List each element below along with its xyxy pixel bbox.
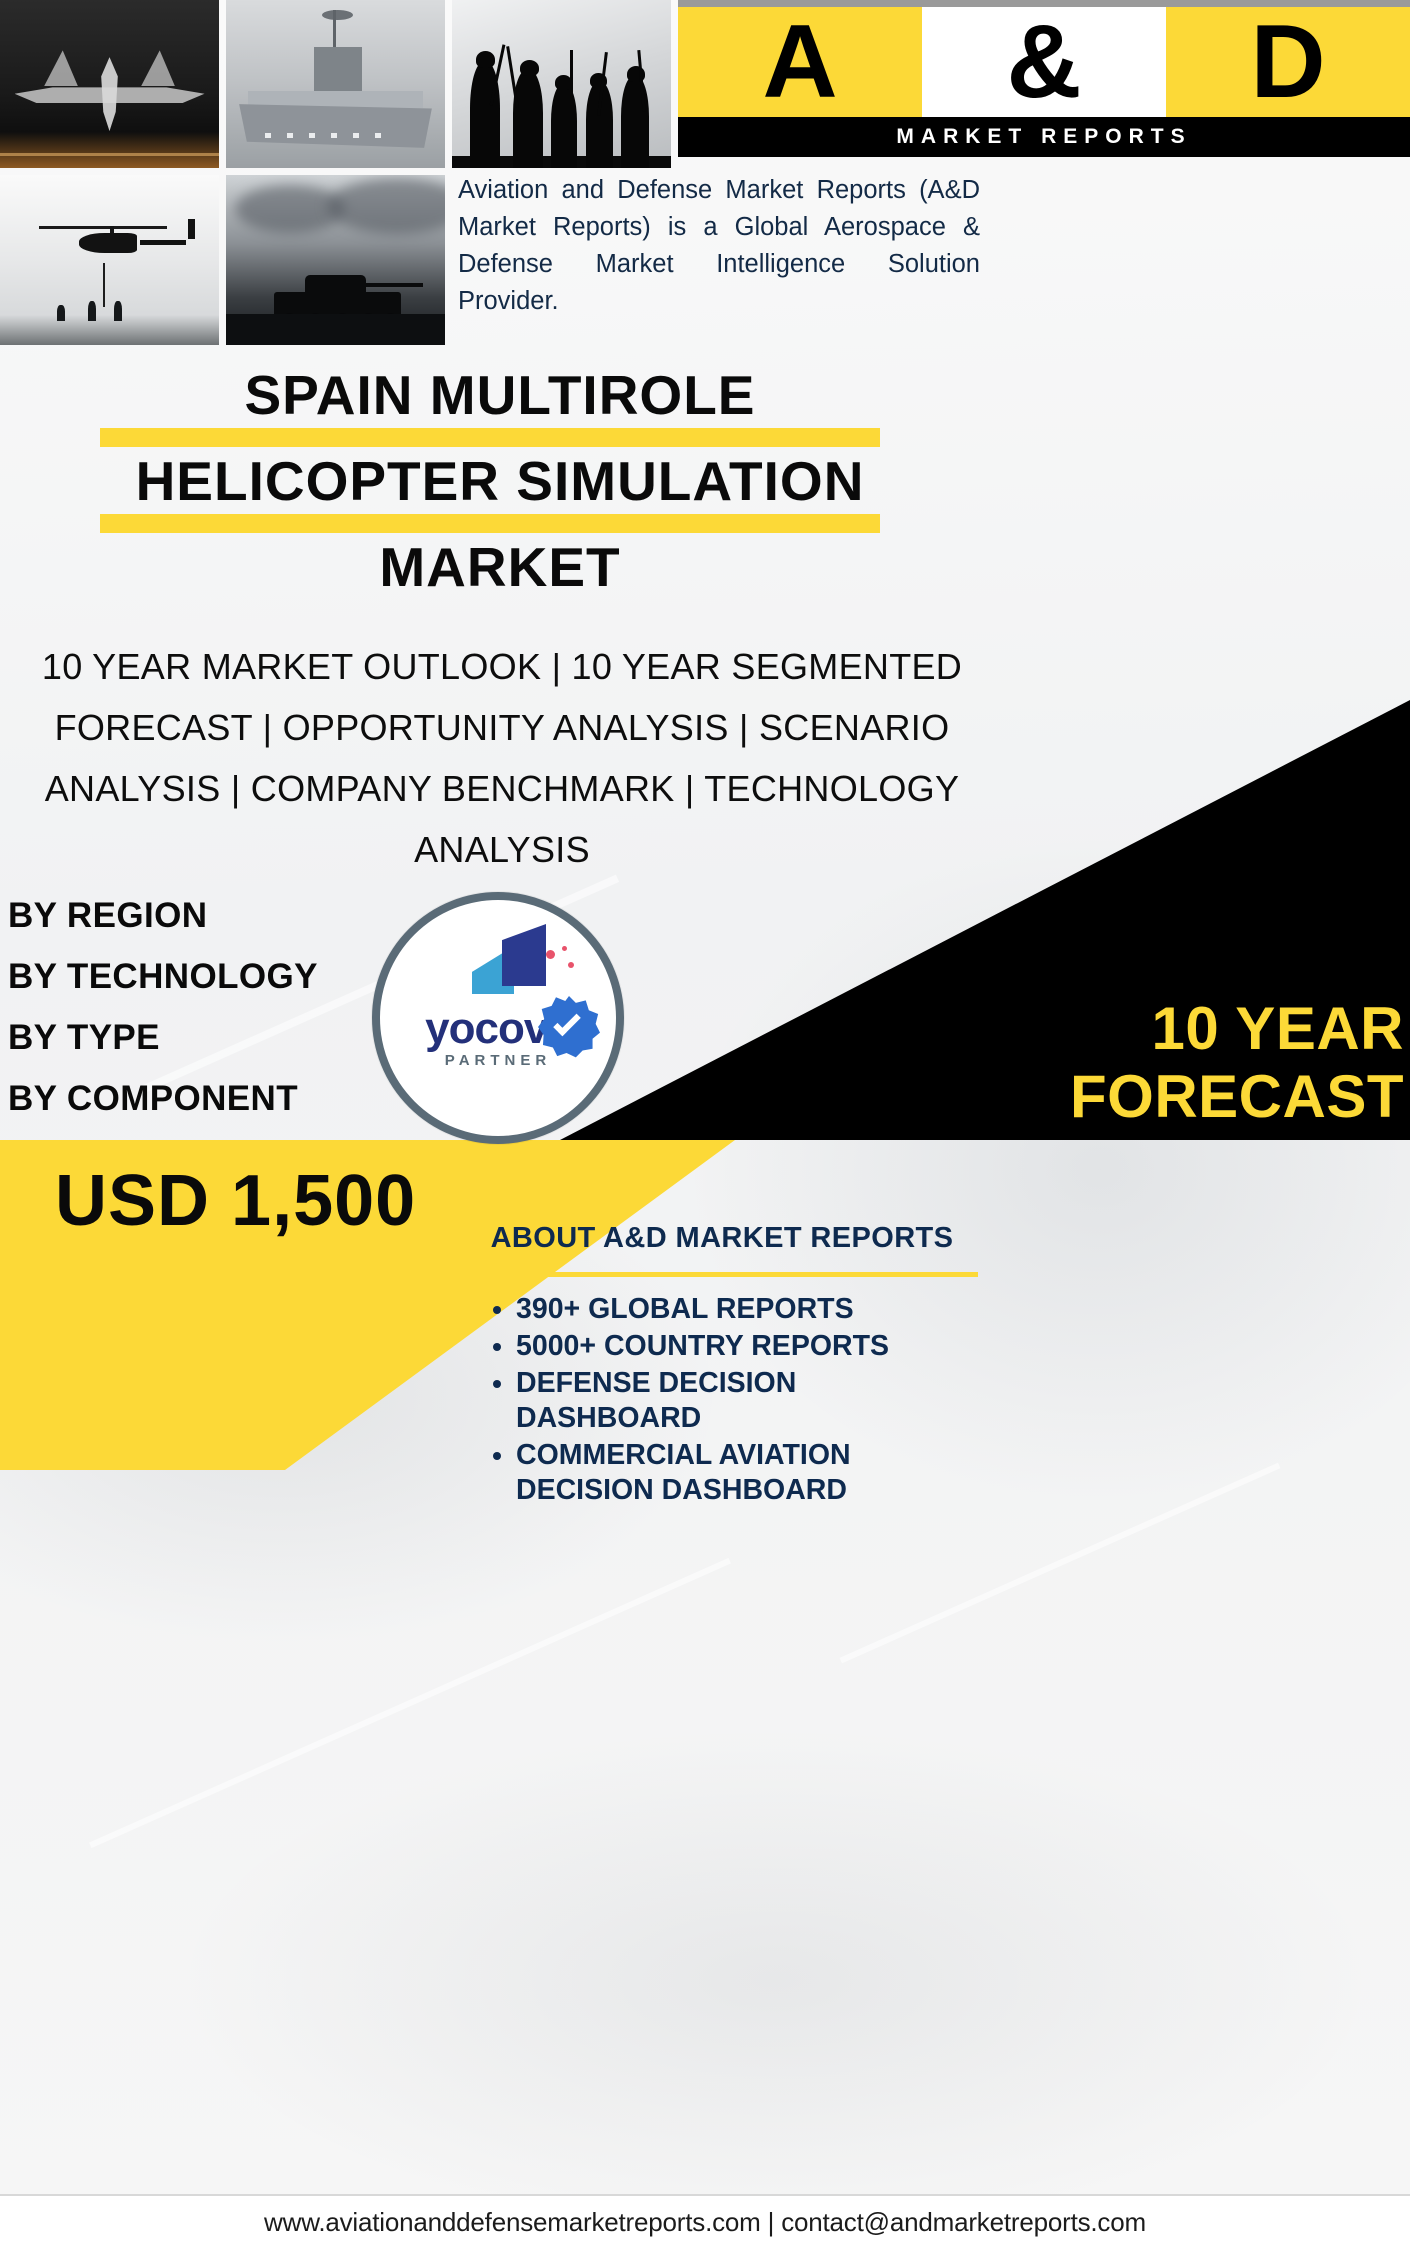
price-label: USD 1,500 bbox=[55, 1160, 416, 1242]
logo-letter-a: A bbox=[678, 7, 922, 117]
logo-letters: A & D bbox=[678, 7, 1410, 117]
segmentation-item-region: BY REGION bbox=[8, 885, 318, 946]
verified-check-icon bbox=[538, 996, 600, 1058]
title-text-2: HELICOPTER SIMULATION bbox=[0, 438, 1000, 524]
segmentation-item-component: BY COMPONENT bbox=[8, 1068, 318, 1129]
armored-vehicle-photo bbox=[226, 175, 445, 345]
footer-bar: www.aviationanddefensemarketreports.com … bbox=[0, 2194, 1410, 2250]
forecast-callout: 10 YEAR FORECAST bbox=[910, 995, 1410, 1131]
yocova-logo-mark-icon bbox=[472, 924, 546, 998]
segmentation-item-technology: BY TECHNOLOGY bbox=[8, 946, 318, 1007]
about-underline bbox=[458, 1272, 978, 1277]
segmentation-item-type: BY TYPE bbox=[8, 1007, 318, 1068]
yocova-partner-badge: yocova PARTNER bbox=[372, 892, 624, 1144]
logo-letter-d: D bbox=[1166, 7, 1410, 117]
about-bullet-commercial-dashboard: COMMERCIAL AVIATION DECISION DASHBOARD bbox=[516, 1438, 960, 1510]
footer-top-rule bbox=[0, 2194, 1410, 2196]
forecast-line-2: FORECAST bbox=[910, 1063, 1404, 1131]
segmentation-list: BY REGION BY TECHNOLOGY BY TYPE BY COMPO… bbox=[8, 885, 318, 1129]
brand-logo: A & D MARKET REPORTS bbox=[678, 0, 1410, 160]
fighter-jet-photo bbox=[0, 0, 219, 168]
title-line-2: HELICOPTER SIMULATION bbox=[0, 438, 1000, 524]
about-section-heading: ABOUT A&D MARKET REPORTS bbox=[462, 1222, 982, 1255]
about-bullet-global-reports: 390+ GLOBAL REPORTS bbox=[516, 1292, 960, 1329]
sparkle-dots-icon bbox=[546, 946, 580, 976]
title-text-3: MARKET bbox=[0, 524, 1000, 610]
soldiers-silhouette-photo bbox=[452, 0, 671, 168]
footer-contact-text: www.aviationanddefensemarketreports.com … bbox=[264, 2207, 1146, 2238]
logo-letter-ampersand: & bbox=[922, 7, 1166, 117]
about-bullet-list: 390+ GLOBAL REPORTS 5000+ COUNTRY REPORT… bbox=[490, 1292, 960, 1510]
page-title: SPAIN MULTIROLE HELICOPTER SIMULATION MA… bbox=[0, 352, 1000, 610]
about-bullet-defense-dashboard: DEFENSE DECISION DASHBOARD bbox=[516, 1366, 960, 1438]
about-bullet-country-reports: 5000+ COUNTRY REPORTS bbox=[516, 1329, 960, 1366]
logo-tagline-band: MARKET REPORTS bbox=[678, 117, 1410, 157]
title-text-1: SPAIN MULTIROLE bbox=[0, 352, 1000, 438]
title-line-3: MARKET bbox=[0, 524, 1000, 610]
aircraft-carrier-photo bbox=[226, 0, 445, 168]
logo-tagline-text: MARKET REPORTS bbox=[896, 125, 1191, 149]
title-line-1: SPAIN MULTIROLE bbox=[0, 352, 1000, 438]
forecast-line-1: 10 YEAR bbox=[910, 995, 1404, 1063]
helicopter-photo bbox=[0, 175, 219, 345]
report-scope-subtitle: 10 YEAR MARKET OUTLOOK | 10 YEAR SEGMENT… bbox=[22, 636, 982, 880]
company-intro-paragraph: Aviation and Defense Market Reports (A&D… bbox=[458, 172, 980, 320]
